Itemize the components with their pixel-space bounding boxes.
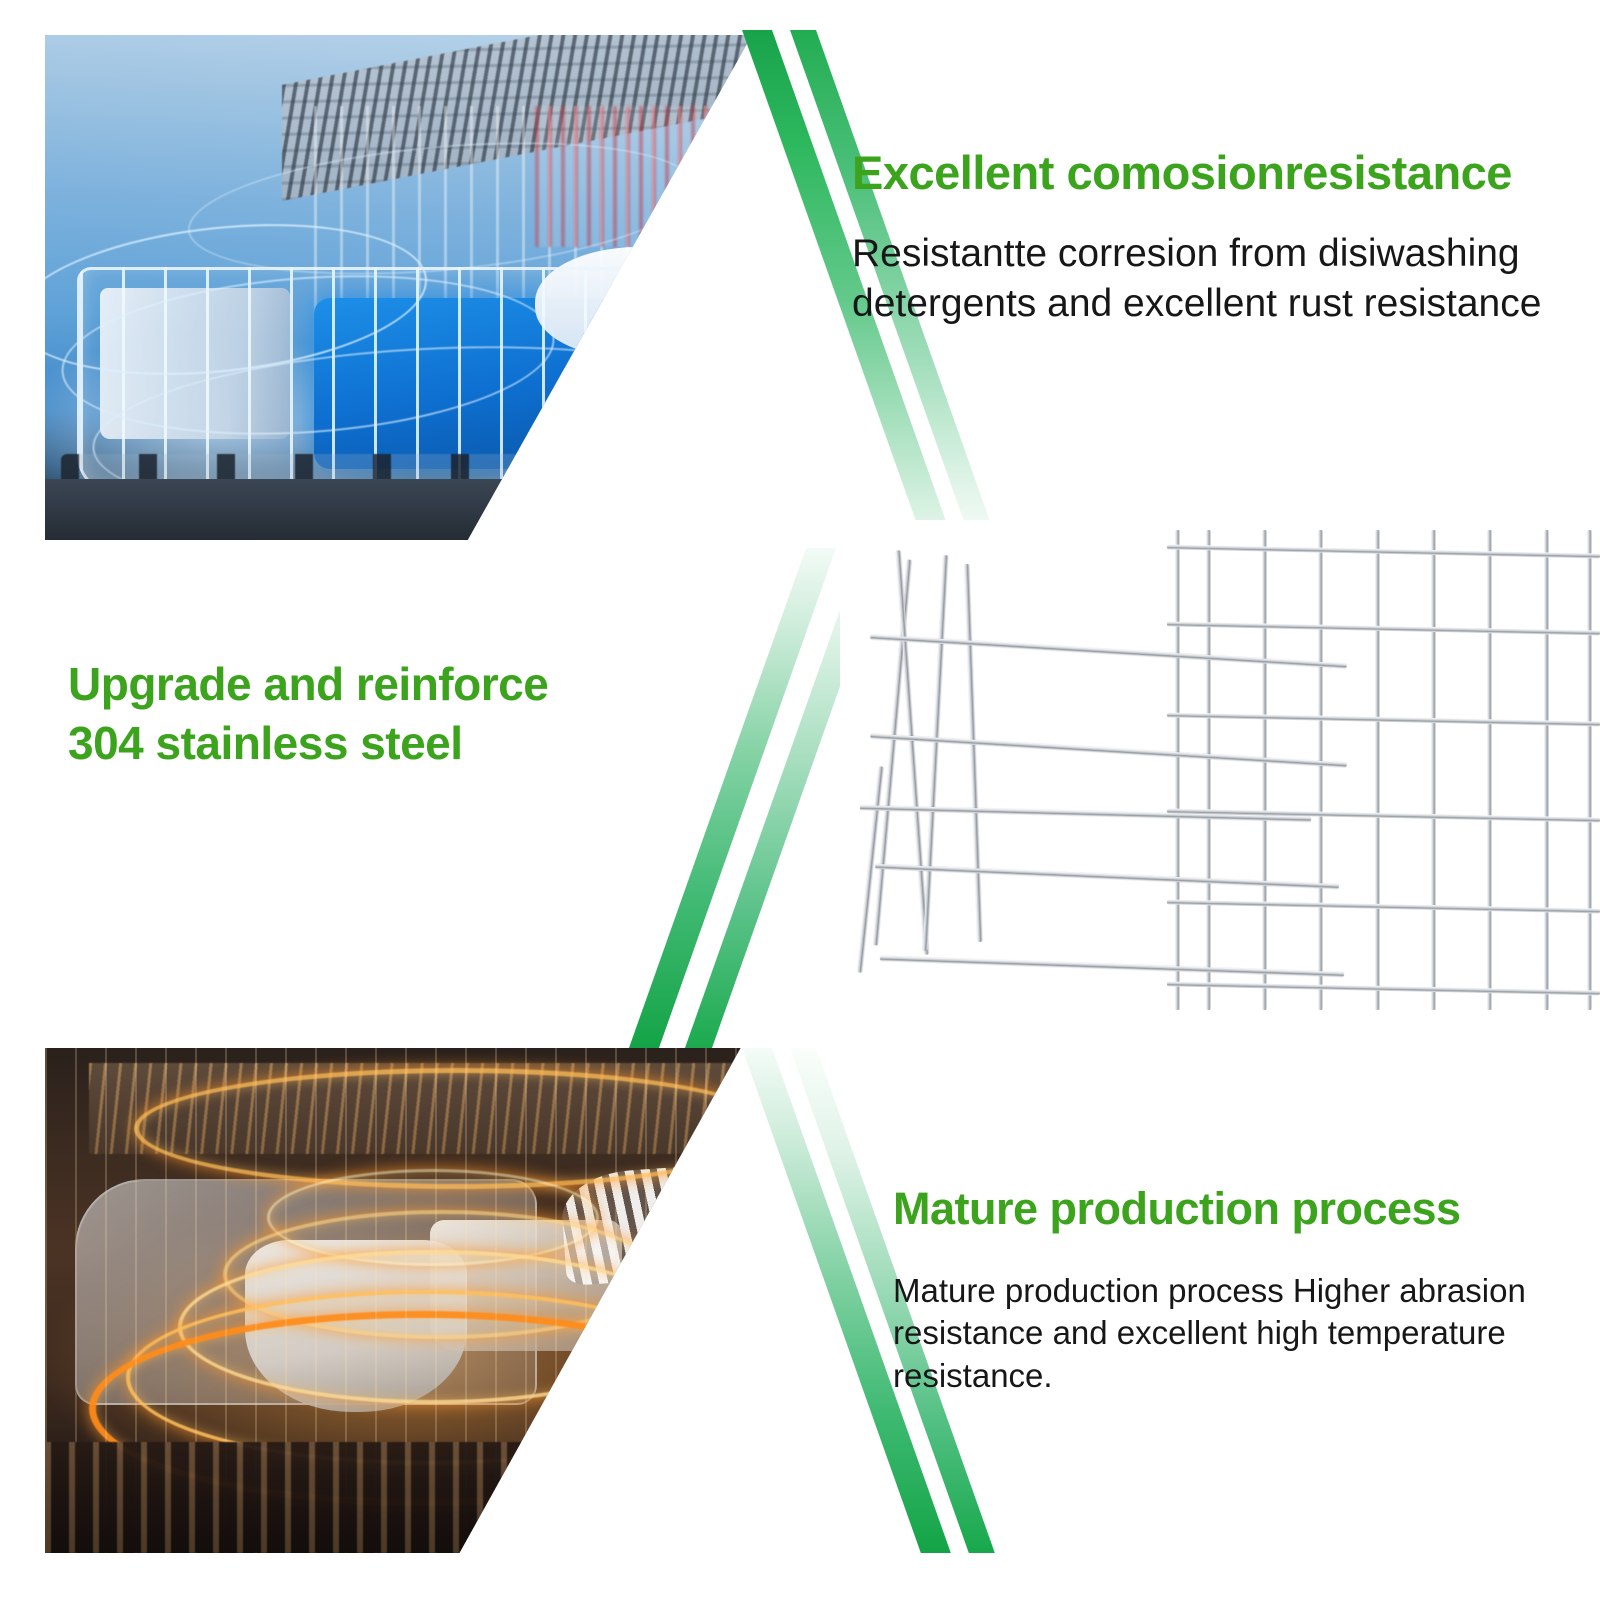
upgrade-headline: Upgrade and reinforce 304 stainless stee… [68,655,668,773]
grid-wire-v1 [1175,530,1180,1010]
dishwasher-floor [45,479,835,540]
grid-wire-v5 [1375,530,1380,1010]
infographic-page: Excellent comosionresistance Resistantte… [0,0,1600,1600]
grid-wire-h1 [1167,545,1600,559]
blue-dishwasher-interior-photo [45,35,835,540]
grid-wire-v3 [1262,530,1267,1010]
blue-scene-backdrop [45,35,835,540]
corrosion-text-block: Excellent comosionresistance Resistantte… [852,148,1552,330]
rack-wireframe [840,520,1600,1020]
mature-body: Mature production process Higher abrasio… [893,1270,1553,1399]
grid-wire-v6 [1431,530,1436,1010]
grid-wire-h3 [1167,713,1600,727]
corrosion-body: Resistantte corresion from disiwashing d… [852,229,1552,330]
side-wire-4 [964,564,982,942]
upgrade-text-block: Upgrade and reinforce 304 stainless stee… [68,655,668,773]
grid-wire-v9 [1587,530,1592,1010]
amber-dishwasher-interior-photo [45,1048,785,1553]
mature-headline: Mature production process [893,1185,1553,1234]
rack-basket-side [855,550,1106,1000]
grid-wire-v8 [1544,530,1549,1010]
grid-wire-v2 [1206,530,1211,1010]
amber-scene-backdrop [45,1048,785,1553]
mature-text-block: Mature production process Mature product… [893,1185,1553,1398]
upgrade-headline-line1: Upgrade and reinforce [68,658,548,710]
rack-grid-panel [1167,530,1600,1010]
upgrade-headline-line2: 304 stainless steel [68,717,463,769]
grid-wire-h2 [1167,621,1600,635]
grid-wire-v4 [1318,530,1323,1010]
corrosion-headline: Excellent comosionresistance [852,148,1552,199]
grid-wire-h6 [1167,981,1600,995]
grid-wire-h5 [1167,900,1600,914]
stainless-steel-wire-rack-photo [840,520,1600,1020]
dishwasher-base-detail [45,1442,785,1553]
side-wire-2 [896,550,929,954]
grid-wire-v7 [1487,530,1492,1010]
side-wire-3 [923,555,949,951]
side-wire-1 [873,560,912,946]
